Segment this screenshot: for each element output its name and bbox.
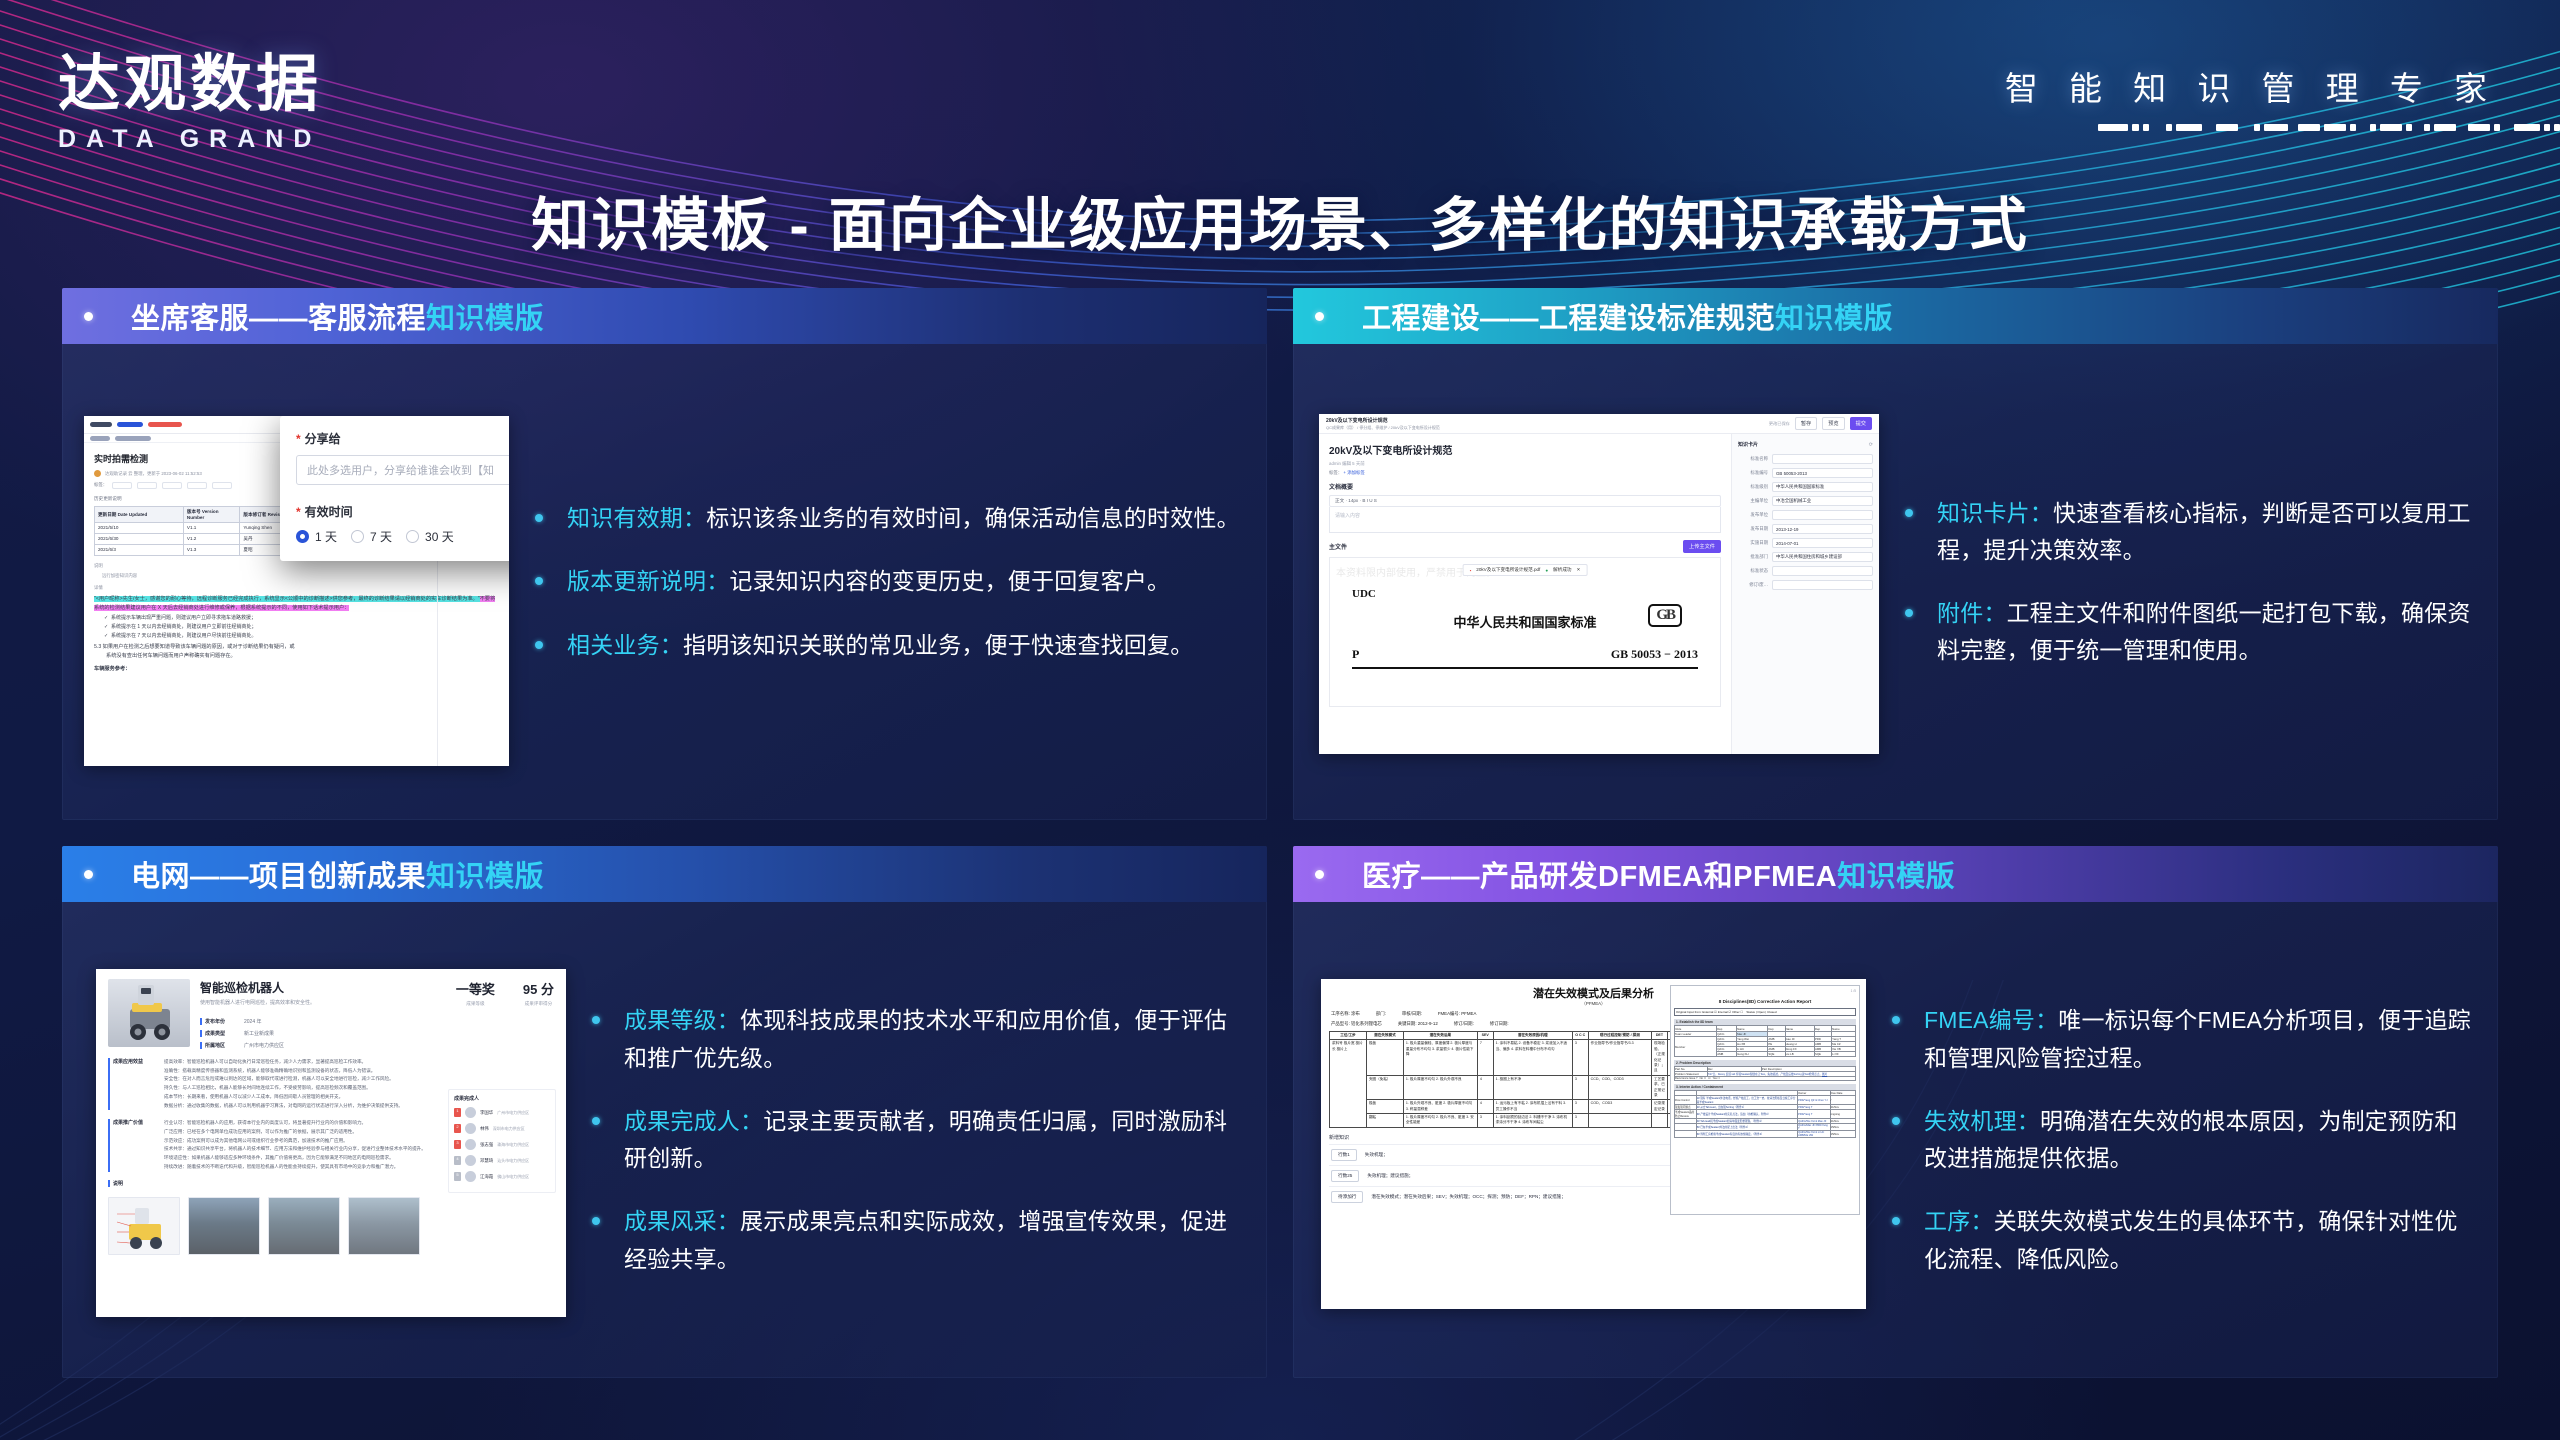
achievement-subtitle: 使用智能机器人进行电网巡检，提高效率和安全性。 <box>200 999 446 1006</box>
valid-time-radio-group[interactable]: 1 天 7 天 30 天 <box>296 528 509 545</box>
gallery-image[interactable] <box>188 1197 260 1255</box>
bullet-dot-icon <box>592 1117 600 1125</box>
topbar-breadcrumb: QC成果库（用） / 停分组、停维护 / 20kV及以下变电所设计规范 <box>1326 425 1440 431</box>
bullet-item: 失效机理：明确潜在失效的根本原因，为制定预防和改进措施提供依据。 <box>1892 1103 2472 1178</box>
contributor-row: 4邓慧琦汕头市电力供应区 <box>454 1155 550 1166</box>
gallery-image[interactable] <box>108 1197 180 1255</box>
card-body-2: 20kV及以下变电所设计规范 QC成果库（用） / 停分组、停维护 / 20kV… <box>1293 344 2498 820</box>
field-row: 修订/废… <box>1738 580 1873 590</box>
panel-8d-title: 8 Disciplines(8D) Corrective Action Repo… <box>1674 999 1856 1004</box>
topbar-actions: 更改已保存 暂存 预览 提交 <box>1769 417 1872 430</box>
achievement-header: 智能巡检机器人 使用智能机器人进行电网巡检，提高效率和安全性。 发布年份2024… <box>108 979 554 1049</box>
screenshot-wrap-2: 20kV及以下变电所设计规范 QC成果库（用） / 停分组、停维护 / 20kV… <box>1309 358 1879 806</box>
app-topbar: 20kV及以下变电所设计规范 QC成果库（用） / 停分组、停维护 / 20kV… <box>1319 414 1879 434</box>
submit-button[interactable]: 提交 <box>1850 417 1872 430</box>
page-title: 知识模板 - 面向企业级应用场景、多样化的知识承载方式 <box>0 178 2560 262</box>
card-header-3: 电网——项目创新成果知识模版 <box>62 846 1267 902</box>
panel-8d-pager: 1 /5 <box>1674 989 1856 993</box>
field-row: 标准级别中华人民共和国国家标准 <box>1738 482 1873 492</box>
pdf-code-line: PGB 50053 − 2013 <box>1352 647 1698 662</box>
field-row: 所属地区广州市电力供应区 <box>200 1042 446 1049</box>
card-bullets-1: 知识有效期：标识该条业务的有效时间，确保活动信息的时效性。 版本更新说明：记录知… <box>509 358 1259 806</box>
contributors-panel: 成果完成人 1李国华广州市电力供应区 2林伟深圳市电力供应区 3张志强珠海市电力… <box>448 1089 556 1193</box>
doc-meta: admin 编辑 5 天前 <box>1329 461 1721 467</box>
brand-logo: 达观数据 DATA GRAND <box>58 52 322 154</box>
main-file-label: 主文件 <box>1329 542 1347 551</box>
bullet-item: 相关业务：指明该知识关联的常见业务，便于快速查找回复。 <box>535 627 1241 664</box>
upload-main-file-button[interactable]: 上传主文件 <box>1683 540 1721 553</box>
screenshot-wrap-4: 潜在失效模式及后果分析 （PFMEA） 工序名称: 涂布部门: 审核/日期:FM… <box>1309 916 1866 1364</box>
card-bullets-4: FMEA编号：唯一标识每个FMEA分析项目，便于追踪和管理风险管控过程。 失效机… <box>1866 916 2490 1364</box>
pdf-rule <box>1352 667 1698 669</box>
robot-photo <box>108 979 190 1047</box>
award-grade-block: 一等奖 成果等级 <box>456 979 495 1049</box>
field-row: 发布年份2024 年 <box>200 1018 446 1025</box>
bullet-dot-icon <box>535 514 543 522</box>
field-row: 主编单位中冶全国机械工业 <box>1738 496 1873 506</box>
field-row: 标准编号GB 50053-2013 <box>1738 468 1873 478</box>
promotion-label: 成果推广价值 <box>108 1119 156 1171</box>
card-bullets-2: 知识卡片：快速查看核心指标，判断是否可以复用工程，提升决策效率。 附件：工程主文… <box>1879 358 2490 806</box>
bullet-item: 知识有效期：标识该条业务的有效时间，确保活动信息的时效性。 <box>535 500 1241 537</box>
file-chip[interactable]: ▪20kV及以下变电所设计规范.pdf ●解析成功✕ <box>1463 564 1588 576</box>
bullet-item: FMEA编号：唯一标识每个FMEA分析项目，便于追踪和管理风险管控过程。 <box>1892 1002 2472 1077</box>
field-row: 实施日期2014-07-01 <box>1738 538 1873 548</box>
card-title-4: 医疗——产品研发DFMEA和PFMEA知识模版 <box>1362 853 1955 895</box>
doc-edit-pane: 20kV及以下变电所设计规范 admin 编辑 5 天前 标签： + 添加标签 … <box>1319 434 1731 754</box>
slide-root: 达观数据 DATA GRAND 智 能 知 识 管 理 专 家 知识模板 - 面… <box>0 0 2560 1440</box>
screenshot-engineering-standard[interactable]: 20kV及以下变电所设计规范 QC成果库（用） / 停分组、停维护 / 20kV… <box>1319 414 1879 754</box>
card-title-1: 坐席客服——客服流程知识模版 <box>131 295 544 337</box>
field-row: 标准状态 <box>1738 566 1873 576</box>
card-engineering[interactable]: 工程建设——工程建设标准规范知识模版 20kV及以下变电所设计规范 QC成果库（… <box>1293 288 2498 820</box>
card-power-grid[interactable]: 电网——项目创新成果知识模版 <box>62 846 1267 1378</box>
achievement-title: 智能巡检机器人 <box>200 979 446 996</box>
save-status: 更改已保存 <box>1769 421 1790 427</box>
pdf-udc: UDC <box>1352 588 1712 600</box>
bullet-dot-icon <box>592 1217 600 1225</box>
share-user-input[interactable]: 此处多选用户，分享给谁谁会收到【知 <box>296 455 509 485</box>
bullet-dot-icon <box>1315 312 1324 321</box>
brand-tagline: 智 能 知 识 管 理 专 家 <box>2005 62 2498 110</box>
screenshot-wrap-3: 智能巡检机器人 使用智能机器人进行电网巡检，提高效率和安全性。 发布年份2024… <box>78 916 566 1364</box>
bullet-dot-icon <box>535 577 543 585</box>
doc-tag-row: 标签： + 添加标签 <box>1329 470 1721 476</box>
gb-mark-icon: GB <box>1648 604 1682 627</box>
screenshot-wrap-1: 实时拍需检测 达观助记录 云 整理，更新于 2023-06-02 11:52:5… <box>78 358 509 806</box>
bullet-dot-icon <box>592 1016 600 1024</box>
field-row: 标准名称 <box>1738 454 1873 464</box>
screenshot-inspection-robot[interactable]: 智能巡检机器人 使用智能机器人进行电网巡检，提高效率和安全性。 发布年份2024… <box>96 969 566 1317</box>
award-summary: 一等奖 成果等级 95 分 成果评审得分 <box>456 979 554 1049</box>
refresh-icon[interactable]: ⟳ <box>1869 442 1873 448</box>
contributor-row: 2林伟深圳市电力供应区 <box>454 1123 550 1134</box>
gallery-image[interactable] <box>348 1197 420 1255</box>
bullet-item: 知识卡片：快速查看核心指标，判断是否可以复用工程，提升决策效率。 <box>1905 495 2472 570</box>
main-file-bar: 主文件 上传主文件 <box>1329 540 1721 553</box>
gallery-image[interactable] <box>268 1197 340 1255</box>
avatar <box>465 1139 476 1150</box>
row-badge: 待添加行 <box>1331 1191 1363 1203</box>
screenshot-customer-service-doc[interactable]: 实时拍需检测 达观助记录 云 整理，更新于 2023-06-02 11:52:5… <box>84 416 509 766</box>
card-title-2: 工程建设——工程建设标准规范知识模版 <box>1362 295 1893 337</box>
bullet-dot-icon <box>535 641 543 649</box>
summary-section-label: 文档概要 <box>1329 482 1721 491</box>
bullet-dot-icon <box>84 312 93 321</box>
bullet-dot-icon <box>1315 870 1324 879</box>
brand-tagline-block: 智 能 知 识 管 理 专 家 <box>2005 62 2498 133</box>
bullet-item: 附件：工程主文件和附件图纸一起打包下载，确保资料完整，便于统一管理和使用。 <box>1905 595 2472 670</box>
bullet-dot-icon <box>1892 1117 1900 1125</box>
panel-8d-action-table: OwnerDue Date Flow Control1# 现有 半成Sealan… <box>1674 1090 1856 1138</box>
radio-icon-selected <box>296 530 309 543</box>
row-badge: 行数25 <box>1331 1170 1359 1182</box>
panel-8d-problem-table: Part No.RevPart Description Problem Stat… <box>1674 1066 1856 1081</box>
avatar <box>465 1171 476 1182</box>
logo-text-cn: 达观数据 <box>58 52 322 117</box>
header-wave-decoration <box>0 0 2560 320</box>
card-seat-service[interactable]: 坐席客服——客服流程知识模版 <box>62 288 1267 820</box>
card-body-1: 实时拍需检测 达观助记录 云 整理，更新于 2023-06-02 11:52:5… <box>62 344 1267 820</box>
card-header-4: 医疗——产品研发DFMEA和PFMEA知识模版 <box>1293 846 2498 902</box>
panel-8d-input-row: Original Input from: External ☑ Internal… <box>1674 1008 1856 1016</box>
share-to-label: *分享给 <box>296 430 509 447</box>
bullet-item: 成果完成人：记录主要贡献者，明确责任归属，同时激励科研创新。 <box>592 1103 1241 1178</box>
contributor-row: 3张志强珠海市电力供应区 <box>454 1139 550 1150</box>
contributors-title: 成果完成人 <box>454 1095 550 1102</box>
panel-header: 知识卡片 ⟳ <box>1738 441 1873 448</box>
contributor-row: 1李国华广州市电力供应区 <box>454 1107 550 1118</box>
robot-diagram-icon <box>109 1198 181 1256</box>
bullet-item: 成果风采：展示成果亮点和实际成效，增强宣传效果，促进经验共享。 <box>592 1203 1241 1278</box>
card-medical-fmea[interactable]: 医疗——产品研发DFMEA和PFMEA知识模版 潜在失效模式及后果分析 （PFM… <box>1293 846 2498 1378</box>
benefit-label: 成果应用效益 <box>108 1058 156 1110</box>
panel-8d-report[interactable]: 1 /5 8 Disciplines(8D) Corrective Action… <box>1670 985 1860 1215</box>
add-tag-button[interactable]: + 添加标签 <box>1343 470 1364 475</box>
field-row: 成果类型新工业新成果 <box>200 1030 446 1037</box>
award-score-block: 95 分 成果评审得分 <box>523 979 554 1049</box>
row-badge: 行数1 <box>1331 1149 1357 1161</box>
achievement-info: 智能巡检机器人 使用智能机器人进行电网巡检，提高效率和安全性。 发布年份2024… <box>200 979 446 1049</box>
knowledge-card-panel: 知识卡片 ⟳ 标准名称 标准编号GB 50053-2013 标准级别中华人民共和… <box>1731 434 1879 754</box>
pdf-preview[interactable]: 本资料限内部使用，严禁用于商业。 ▪20kV及以下变电所设计规范.pdf ●解析… <box>1329 557 1721 707</box>
bullet-dot-icon <box>1892 1217 1900 1225</box>
editor-content[interactable]: 请输入内容 <box>1329 507 1721 533</box>
bullet-dot-icon <box>84 870 93 879</box>
app-main: 20kV及以下变电所设计规范 admin 编辑 5 天前 标签： + 添加标签 … <box>1319 434 1879 754</box>
bullet-dot-icon <box>1892 1016 1900 1024</box>
bullet-item: 版本更新说明：记录知识内容的变更历史，便于回复客户。 <box>535 563 1241 600</box>
screenshot-pfmea[interactable]: 潜在失效模式及后果分析 （PFMEA） 工序名称: 涂布部门: 审核/日期:FM… <box>1321 979 1866 1309</box>
share-dialog[interactable]: *分享给 此处多选用户，分享给谁谁会收到【知 *有效时间 1 天 7 天 30 … <box>280 416 509 561</box>
doc-title: 20kV及以下变电所设计规范 <box>1329 442 1721 457</box>
radio-1-day[interactable]: 1 天 <box>296 528 337 545</box>
radio-icon <box>406 530 419 543</box>
panel-8d-team-table: RoleDepNameDepNameDepName Team LeaderQA/… <box>1674 1025 1856 1057</box>
logo-text-en: DATA GRAND <box>58 125 322 154</box>
radio-7-days[interactable]: 7 天 <box>351 528 392 545</box>
field-row: 发布日期2013-12-19 <box>1738 524 1873 534</box>
bullet-dot-icon <box>1905 609 1913 617</box>
contributor-row: 5江海霞佛山市电力供应区 <box>454 1171 550 1182</box>
radio-30-days[interactable]: 30 天 <box>406 528 454 545</box>
cards-grid: 坐席客服——客服流程知识模版 <box>62 288 2498 1378</box>
field-row: 发布单位 <box>1738 510 1873 520</box>
card-title-3: 电网——项目创新成果知识模版 <box>131 853 544 895</box>
card-bullets-3: 成果等级：体现科技成果的技术水平和应用价值，便于评估和推广优先级。 成果完成人：… <box>566 916 1259 1364</box>
photo-gallery <box>108 1197 554 1255</box>
field-row: 批准部门中华人民共和国住房和城乡建设部 <box>1738 552 1873 562</box>
card-body-4: 潜在失效模式及后果分析 （PFMEA） 工序名称: 涂布部门: 审核/日期:FM… <box>1293 902 2498 1378</box>
avatar <box>465 1107 476 1118</box>
card-header-1: 坐席客服——客服流程知识模版 <box>62 288 1267 344</box>
draft-button[interactable]: 暂存 <box>1795 417 1817 430</box>
avatar <box>465 1155 476 1166</box>
avatar <box>465 1123 476 1134</box>
card-header-2: 工程建设——工程建设标准规范知识模版 <box>1293 288 2498 344</box>
preview-button[interactable]: 预览 <box>1822 417 1844 430</box>
radio-icon <box>351 530 364 543</box>
panel-title: 知识卡片 <box>1738 441 1758 448</box>
bullet-item: 成果等级：体现科技成果的技术水平和应用价值，便于评估和推广优先级。 <box>592 1002 1241 1077</box>
card-body-3: 智能巡检机器人 使用智能机器人进行电网巡检，提高效率和安全性。 发布年份2024… <box>62 902 1267 1378</box>
bullet-item: 工序：关联失效模式发生的具体环节，确保针对性优化流程、降低风险。 <box>1892 1203 2472 1278</box>
tagline-dashed-rule <box>2098 124 2498 133</box>
topbar-title: 20kV及以下变电所设计规范 <box>1326 417 1440 424</box>
bullet-dot-icon <box>1905 509 1913 517</box>
valid-time-label: *有效时间 <box>296 503 509 520</box>
robot-illustration-icon <box>108 979 190 1047</box>
editor-toolbar[interactable]: 正文 · 14px · B I U S <box>1329 495 1721 507</box>
